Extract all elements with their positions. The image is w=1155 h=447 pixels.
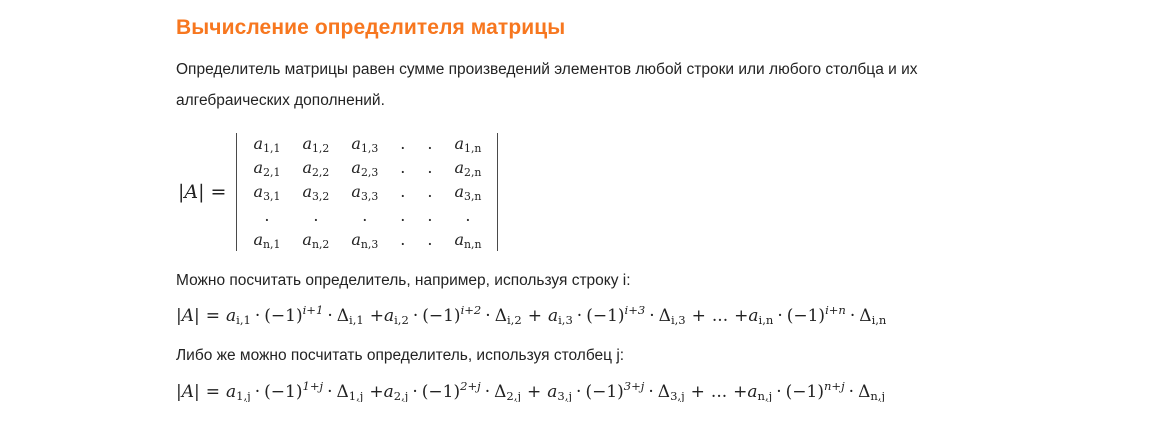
matrix-cell: an,3: [340, 228, 389, 252]
matrix-cell: an,1: [242, 228, 291, 252]
matrix-row: an,1 an,2 an,3 . . an,n: [242, 228, 492, 252]
eq-exponent: 3+j: [624, 379, 645, 393]
eq-minor-sub: 3,j: [670, 389, 685, 402]
eq-matrix-symbol: A: [182, 382, 194, 402]
row-expansion-equation: |A|=ai,1·(−1)i+1·Δi,1+ai,2·(−1)i+2·Δi,2+…: [176, 296, 1036, 326]
determinant-matrix-formula: |A|= a1,1 a1,2 a1,3 . . a1,n a2,1 a2,2: [176, 116, 1036, 252]
eq-equals: =: [206, 382, 220, 402]
eq-exponent: i+n: [825, 303, 846, 317]
matrix-cell: a1,3: [340, 132, 389, 156]
matrix-cell: a2,n: [443, 156, 492, 180]
eq-minor-sub: i,3: [671, 313, 686, 326]
matrix-table: a1,1 a1,2 a1,3 . . a1,n a2,1 a2,2 a2,3 .…: [242, 132, 492, 252]
matrix-cell: a2,2: [291, 156, 340, 180]
eq-coef-sub: i,1: [236, 313, 251, 326]
cell-sub: n,2: [312, 238, 329, 251]
eq-dot: ·: [323, 306, 336, 326]
cell-sub: 3,3: [361, 190, 378, 203]
eq-exponent: n+j: [824, 379, 845, 393]
eq-equals: =: [206, 306, 220, 326]
matrix-cell: a1,1: [242, 132, 291, 156]
matrix-cell: a3,n: [443, 180, 492, 204]
equals-sign: =: [211, 181, 227, 203]
eq-coef-sub: 1,j: [236, 389, 251, 402]
matrix-cell-dot: .: [389, 132, 416, 156]
matrix-cell-dot: .: [416, 132, 443, 156]
eq-minus-one: (−1): [786, 382, 824, 402]
eq-right-bar: |: [194, 382, 200, 402]
matrix-cell-dot: .: [389, 180, 416, 204]
eq-dot: ·: [481, 306, 494, 326]
cell-sub: n,3: [361, 238, 378, 251]
eq-minus-one: (−1): [787, 306, 825, 326]
eq-delta: Δ: [658, 382, 670, 402]
matrix-cell: an,2: [291, 228, 340, 252]
eq-dot: ·: [409, 306, 422, 326]
matrix-bars: a1,1 a1,2 a1,3 . . a1,n a2,1 a2,2 a2,3 .…: [233, 132, 501, 252]
eq-minor-sub: i,2: [507, 313, 522, 326]
eq-minus-one: (−1): [585, 382, 623, 402]
matrix-cell-dot: .: [389, 228, 416, 252]
matrix-cell: a2,3: [340, 156, 389, 180]
cell-sub: n,n: [464, 238, 481, 251]
cell-sub: 1,n: [464, 142, 481, 155]
matrix-cell-dot: .: [340, 204, 389, 228]
eq-dot: ·: [772, 382, 785, 402]
matrix-cell-dot: .: [416, 180, 443, 204]
cell-sub: 1,3: [361, 142, 378, 155]
eq-delta: Δ: [659, 306, 671, 326]
matrix-cell-dot: .: [416, 156, 443, 180]
cell-sub: 2,n: [464, 166, 481, 179]
matrix-row: a2,1 a2,2 a2,3 . . a2,n: [242, 156, 492, 180]
cell-sub: 3,n: [464, 190, 481, 203]
eq-minus-one: (−1): [264, 306, 302, 326]
matrix-cell-dot: .: [389, 204, 416, 228]
matrix-symbol: A: [184, 181, 198, 203]
eq-dot: ·: [773, 306, 786, 326]
matrix-cell: a2,1: [242, 156, 291, 180]
eq-minus-one: (−1): [264, 382, 302, 402]
eq-dot: ·: [251, 306, 264, 326]
cell-sub: 1,2: [312, 142, 329, 155]
eq-plus: +: [370, 306, 384, 326]
cell-sub: 3,1: [263, 190, 280, 203]
page-title: Вычисление определителя матрицы: [176, 0, 1036, 42]
eq-delta: Δ: [494, 382, 506, 402]
eq-dot: ·: [846, 306, 859, 326]
eq-coef-sub: 2,j: [394, 389, 409, 402]
cell-sub: n,1: [263, 238, 280, 251]
eq-dot: ·: [408, 382, 421, 402]
column-expansion-equation: |A|=a1,j·(−1)1+j·Δ1,j+a2,j·(−1)2+j·Δ2,j+…: [176, 371, 1036, 402]
right-bar: |: [198, 181, 204, 203]
matrix-row-ellipsis: . . . . . .: [242, 204, 492, 228]
eq-exponent: i+1: [303, 303, 324, 317]
matrix-cell: a3,3: [340, 180, 389, 204]
cell-sub: 2,3: [361, 166, 378, 179]
eq-exponent: 2+j: [460, 379, 481, 393]
eq-plus: +: [527, 382, 541, 402]
eq-minus-one: (−1): [586, 306, 624, 326]
cell-sub: 3,2: [312, 190, 329, 203]
eq-dot: ·: [845, 382, 858, 402]
cell-sub: 1,1: [263, 142, 280, 155]
eq-delta: Δ: [337, 306, 349, 326]
eq-minor-sub: 1,j: [349, 389, 364, 402]
eq-coef-sub: n,j: [758, 389, 773, 402]
eq-minor-sub: 2,j: [506, 389, 521, 402]
eq-plus: +: [528, 306, 542, 326]
eq-plus: +: [691, 382, 705, 402]
eq-plus: +: [369, 382, 383, 402]
eq-coef-sub: i,n: [759, 313, 774, 326]
eq-plus: +: [692, 306, 706, 326]
eq-exponent: 1+j: [302, 379, 323, 393]
matrix-cell-dot: .: [389, 156, 416, 180]
eq-ellipsis: ...: [712, 306, 728, 326]
eq-coef-sub: i,3: [558, 313, 573, 326]
cell-sub: 2,2: [312, 166, 329, 179]
matrix-row: a1,1 a1,2 a1,3 . . a1,n: [242, 132, 492, 156]
matrix-cell-dot: .: [291, 204, 340, 228]
eq-minus-one: (−1): [422, 306, 460, 326]
eq-exponent: i+3: [625, 303, 646, 317]
matrix-cell-dot: .: [242, 204, 291, 228]
eq-delta: Δ: [495, 306, 507, 326]
eq-dot: ·: [573, 306, 586, 326]
matrix-cell: a3,2: [291, 180, 340, 204]
matrix-cell: a3,1: [242, 180, 291, 204]
eq-dot: ·: [572, 382, 585, 402]
eq-delta: Δ: [337, 382, 349, 402]
article-content: Вычисление определителя матрицы Определи…: [176, 0, 1036, 402]
eq-ellipsis: ...: [711, 382, 727, 402]
eq-coef-sub: i,2: [394, 313, 409, 326]
eq-dot: ·: [644, 382, 657, 402]
matrix-row: a3,1 a3,2 a3,3 . . a3,n: [242, 180, 492, 204]
eq-plus: +: [734, 306, 748, 326]
column-expansion-intro: Либо же можно посчитать определитель, ис…: [176, 326, 1018, 371]
matrix-cell-dot: .: [416, 204, 443, 228]
eq-dot: ·: [251, 382, 264, 402]
eq-delta: Δ: [859, 306, 871, 326]
eq-dot: ·: [645, 306, 658, 326]
eq-exponent: i+2: [461, 303, 482, 317]
matrix-cell: an,n: [443, 228, 492, 252]
matrix-cell-dot: .: [416, 228, 443, 252]
eq-coef-sub: 3,j: [557, 389, 572, 402]
row-expansion-intro: Можно посчитать определитель, например, …: [176, 252, 1018, 296]
matrix-cell: a1,n: [443, 132, 492, 156]
eq-minus-one: (−1): [422, 382, 460, 402]
eq-minor-sub: i,1: [349, 313, 364, 326]
eq-right-bar: |: [194, 306, 200, 326]
article-page: Вычисление определителя матрицы Определи…: [0, 0, 1155, 447]
eq-delta: Δ: [858, 382, 870, 402]
eq-dot: ·: [481, 382, 494, 402]
eq-minor-sub: n,j: [870, 389, 885, 402]
eq-dot: ·: [323, 382, 336, 402]
determinant-lhs: |A|=: [178, 181, 233, 203]
matrix-cell: a1,2: [291, 132, 340, 156]
cell-sub: 2,1: [263, 166, 280, 179]
matrix-cell-dot: .: [443, 204, 492, 228]
eq-minor-sub: i,n: [872, 313, 887, 326]
intro-paragraph: Определитель матрицы равен сумме произве…: [176, 42, 1018, 116]
eq-matrix-symbol: A: [182, 306, 194, 326]
eq-plus: +: [733, 382, 747, 402]
